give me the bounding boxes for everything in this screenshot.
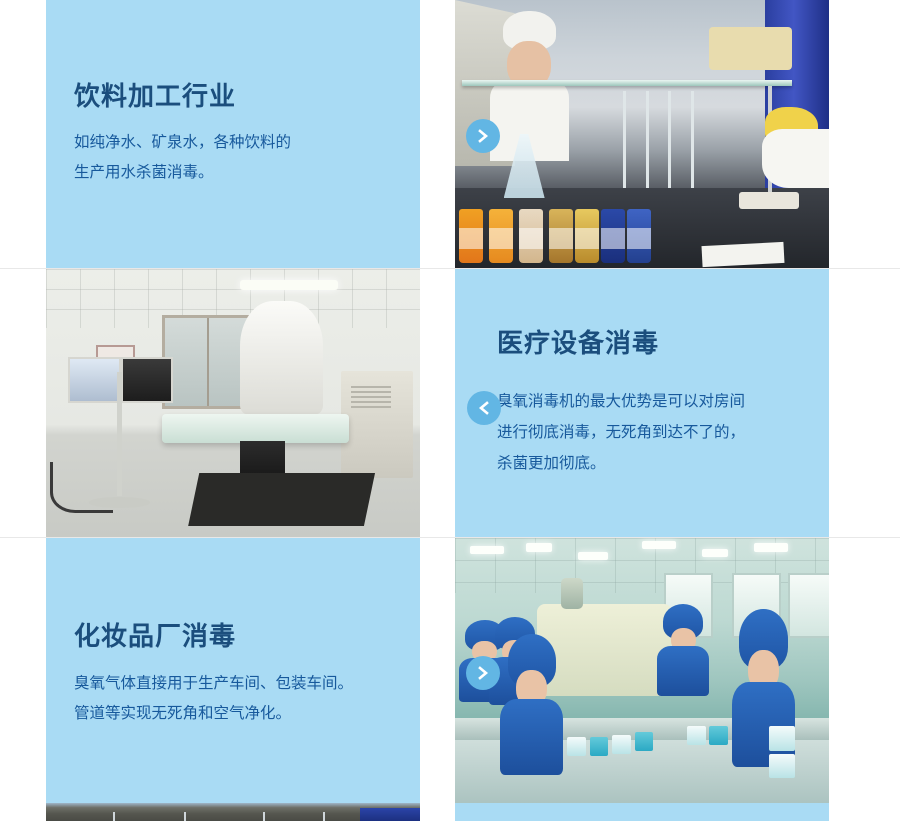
prev-arrow-button-medical[interactable] <box>467 391 501 425</box>
section-row-medical: 医疗设备消毒 臭氧消毒机的最大优势是可以对房间 进行彻底消毒，无死角到达不了的，… <box>46 269 829 537</box>
beverage-lab-photo <box>455 0 829 268</box>
next-text-cell <box>455 803 829 821</box>
medical-photo-cell <box>46 269 420 537</box>
cosmetics-title: 化妆品厂消毒 <box>74 620 394 653</box>
next-photo-cell <box>46 803 420 821</box>
beverage-description-line-2: 生产用水杀菌消毒。 <box>74 158 394 188</box>
medical-description-line-2: 进行彻底消毒，无死角到达不了的， <box>497 417 803 448</box>
cosmetics-panel: 化妆品厂消毒 臭氧气体直接用于生产车间、包装车间。 管道等实现无死角和空气净化。 <box>46 538 420 811</box>
beverage-photo-cell <box>455 0 829 268</box>
medical-xray-room-photo <box>46 269 420 537</box>
beverage-description: 如纯净水、矿泉水，各种饮料的 生产用水杀菌消毒。 <box>74 128 394 188</box>
cosmetics-description-line-1: 臭氧气体直接用于生产车间、包装车间。 <box>74 669 394 699</box>
beverage-text-cell: 饮料加工行业 如纯净水、矿泉水，各种饮料的 生产用水杀菌消毒。 <box>46 0 420 268</box>
medical-description: 臭氧消毒机的最大优势是可以对房间 进行彻底消毒，无死角到达不了的， 杀菌更加彻底… <box>497 386 803 479</box>
cosmetics-description-line-2: 管道等实现无死角和空气净化。 <box>74 699 394 729</box>
medical-text-cell: 医疗设备消毒 臭氧消毒机的最大优势是可以对房间 进行彻底消毒，无死角到达不了的，… <box>455 269 829 537</box>
cosmetics-photo-cell <box>455 538 829 811</box>
next-panel <box>455 803 829 821</box>
beverage-description-line-1: 如纯净水、矿泉水，各种饮料的 <box>74 128 394 158</box>
cosmetics-text-cell: 化妆品厂消毒 臭氧气体直接用于生产车间、包装车间。 管道等实现无死角和空气净化。 <box>46 538 420 811</box>
beverage-title: 饮料加工行业 <box>74 80 394 113</box>
chevron-right-icon <box>475 128 491 144</box>
outdoor-industrial-photo <box>46 803 420 821</box>
medical-title: 医疗设备消毒 <box>497 327 803 360</box>
section-row-beverage: 饮料加工行业 如纯净水、矿泉水，各种饮料的 生产用水杀菌消毒。 <box>46 0 829 268</box>
cosmetics-factory-photo <box>455 538 829 811</box>
chevron-left-icon <box>476 400 492 416</box>
page-root: 饮料加工行业 如纯净水、矿泉水，各种饮料的 生产用水杀菌消毒。 <box>0 0 900 821</box>
medical-description-line-1: 臭氧消毒机的最大优势是可以对房间 <box>497 386 803 417</box>
chevron-right-icon <box>475 665 491 681</box>
medical-panel: 医疗设备消毒 臭氧消毒机的最大优势是可以对房间 进行彻底消毒，无死角到达不了的，… <box>455 269 829 537</box>
beverage-panel: 饮料加工行业 如纯净水、矿泉水，各种饮料的 生产用水杀菌消毒。 <box>46 0 420 268</box>
cosmetics-description: 臭氧气体直接用于生产车间、包装车间。 管道等实现无死角和空气净化。 <box>74 669 394 729</box>
section-row-next-partial <box>46 803 829 821</box>
next-arrow-button-cosmetics[interactable] <box>466 656 500 690</box>
next-arrow-button-beverage[interactable] <box>466 119 500 153</box>
medical-description-line-3: 杀菌更加彻底。 <box>497 448 803 479</box>
section-row-cosmetics: 化妆品厂消毒 臭氧气体直接用于生产车间、包装车间。 管道等实现无死角和空气净化。 <box>46 538 829 811</box>
